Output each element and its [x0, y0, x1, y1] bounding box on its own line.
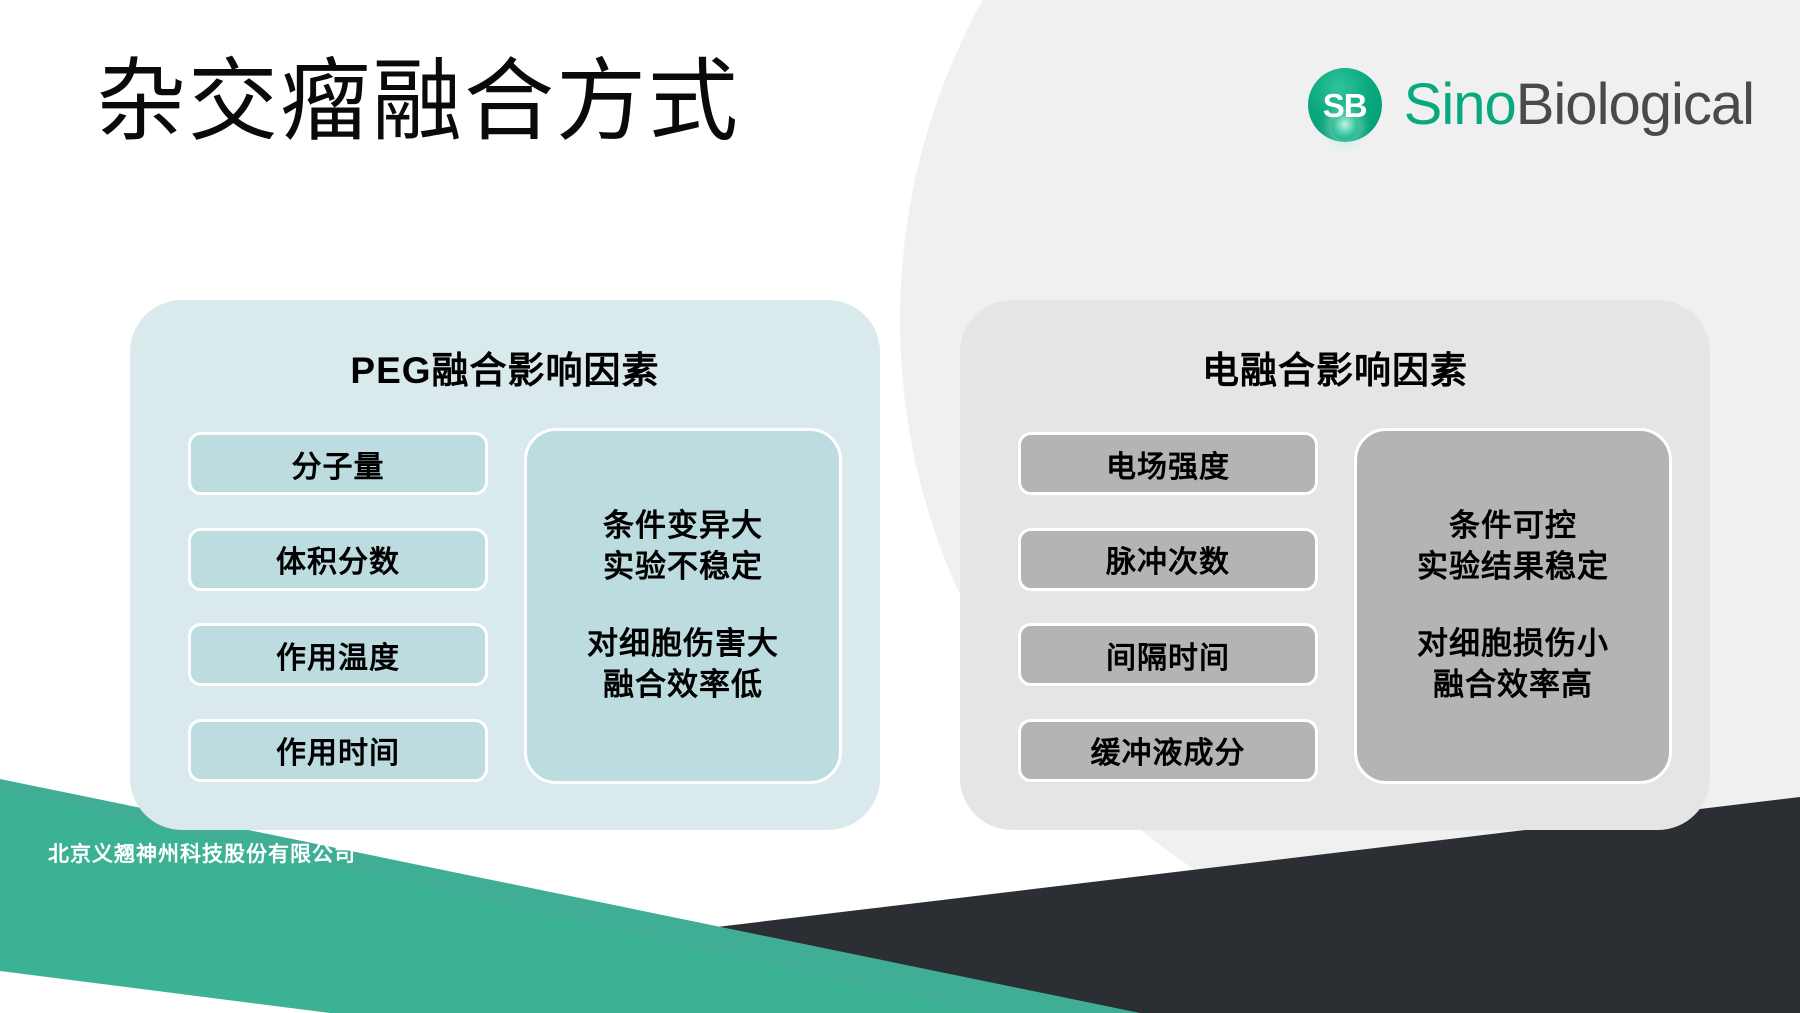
panel-electrofusion: 电融合影响因素 电场强度 脉冲次数 间隔时间 缓冲液成分 条件可控 实验结果稳定…	[960, 300, 1710, 830]
summary-line: 条件变异大	[603, 506, 763, 547]
panel-peg-body: 分子量 体积分数 作用温度 作用时间 条件变异大 实验不稳定 对细胞伤害大 融合…	[188, 428, 842, 784]
footer-company-name: 北京义翘神州科技股份有限公司	[48, 838, 356, 868]
factor-chip: 电场强度	[1018, 432, 1318, 495]
panel-peg: PEG融合影响因素 分子量 体积分数 作用温度 作用时间 条件变异大 实验不稳定…	[130, 300, 880, 830]
factor-chip: 作用时间	[188, 719, 488, 782]
summary-line: 对细胞伤害大	[587, 624, 779, 665]
logo-wordmark: SinoBiological	[1404, 76, 1754, 134]
factor-chip: 分子量	[188, 432, 488, 495]
logo-word-sino: Sino	[1404, 72, 1516, 137]
summary-line: 对细胞损伤小	[1417, 624, 1609, 665]
slide-canvas: 杂交瘤融合方式 SB SinoBiological PEG融合影响因素 分子量 …	[0, 0, 1800, 1013]
factor-chip: 作用温度	[188, 623, 488, 686]
logo-monogram: SB	[1323, 89, 1367, 122]
summary-line: 实验不稳定	[603, 547, 763, 588]
factor-chip: 间隔时间	[1018, 623, 1318, 686]
summary-line: 融合效率高	[1417, 665, 1609, 706]
factor-chip: 缓冲液成分	[1018, 719, 1318, 782]
panel-peg-summary: 条件变异大 实验不稳定 对细胞伤害大 融合效率低	[524, 428, 842, 784]
summary-group: 条件可控 实验结果稳定	[1417, 506, 1609, 588]
logo-word-biological: Biological	[1516, 72, 1754, 137]
panel-peg-title: PEG融合影响因素	[130, 340, 880, 394]
summary-line: 融合效率低	[587, 665, 779, 706]
summary-group: 条件变异大 实验不稳定	[603, 506, 763, 588]
panel-electrofusion-body: 电场强度 脉冲次数 间隔时间 缓冲液成分 条件可控 实验结果稳定 对细胞损伤小 …	[1018, 428, 1672, 784]
summary-group: 对细胞伤害大 融合效率低	[587, 624, 779, 706]
sb-circle-icon: SB	[1308, 68, 1382, 142]
sino-biological-logo: SB SinoBiological	[1308, 65, 1754, 145]
factor-chip: 脉冲次数	[1018, 528, 1318, 591]
panel-electrofusion-title: 电融合影响因素	[960, 340, 1710, 394]
factor-chip: 体积分数	[188, 528, 488, 591]
panel-peg-factor-list: 分子量 体积分数 作用温度 作用时间	[188, 428, 488, 784]
panel-electrofusion-factor-list: 电场强度 脉冲次数 间隔时间 缓冲液成分	[1018, 428, 1318, 784]
panel-electrofusion-summary: 条件可控 实验结果稳定 对细胞损伤小 融合效率高	[1354, 428, 1672, 784]
summary-line: 实验结果稳定	[1417, 547, 1609, 588]
page-title: 杂交瘤融合方式	[96, 48, 740, 156]
summary-line: 条件可控	[1417, 506, 1609, 547]
summary-group: 对细胞损伤小 融合效率高	[1417, 624, 1609, 706]
